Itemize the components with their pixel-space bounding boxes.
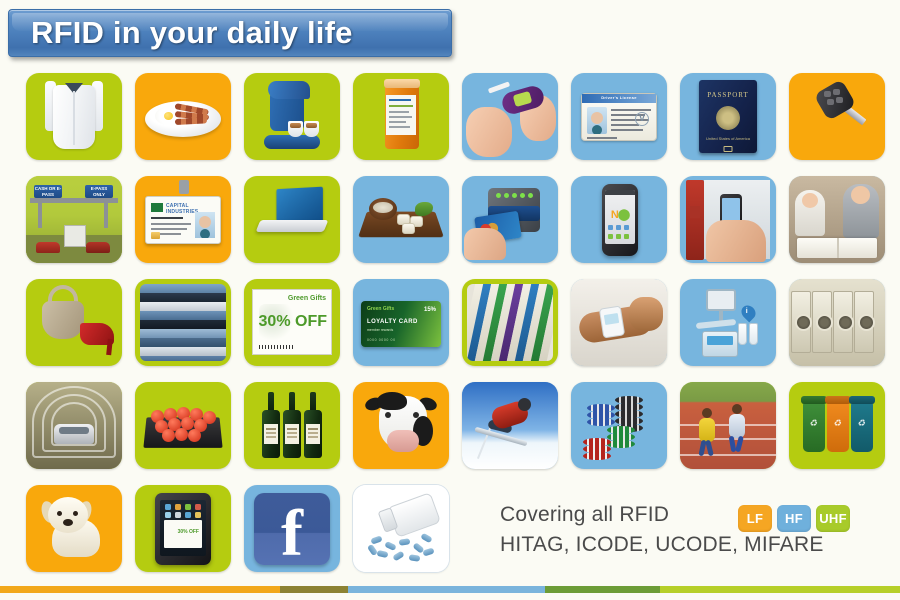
tile-car-wash-tunnel[interactable] [26,382,122,469]
badge-hf[interactable]: HF [777,505,811,532]
tile-toll-booth-epass[interactable]: CASH OR E-PASS E-PASS ONLY [26,176,122,263]
caption-line-2: HITAG, ICODE, UCODE, MIFARE [500,533,860,557]
tile-wine-bottles[interactable] [244,382,340,469]
frequency-badge-group: LF HF UHF [738,505,850,532]
badge-uhf[interactable]: UHF [816,505,850,532]
coupon-discount: 30% OFF [259,314,327,329]
tile-glucose-meter[interactable] [462,73,558,160]
tile-handbag-and-shoe[interactable] [26,279,122,366]
loyalty-brand: Green Gifts [367,306,394,312]
tile-laptop-computer[interactable] [244,176,340,263]
tile-medical-file-folders[interactable] [462,279,558,366]
footer-segment [545,586,660,593]
coupon-brand: Green Gifts [288,295,326,303]
footer-segment [280,586,348,593]
tile-loyalty-card[interactable]: Green Gifts 15% LOYALTY CARD member rewa… [353,279,449,366]
tile-bacon-and-eggs-plate[interactable] [135,73,231,160]
tile-car-key-fob[interactable] [789,73,885,160]
tile-library-reading[interactable] [789,176,885,263]
tile-facebook-logo[interactable]: f [244,485,340,572]
tile-recycling-bins[interactable] [789,382,885,469]
tile-stacked-jeans[interactable] [135,279,231,366]
tile-pill-bottle-spilled[interactable] [353,485,449,572]
tile-sushi-tray[interactable] [353,176,449,263]
tile-skier[interactable] [462,382,558,469]
toll-sign-cash-or-epass: CASH OR E-PASS [34,185,62,198]
tile-tomato-crate[interactable] [135,382,231,469]
tile-passport[interactable]: PASSPORT United States of America [680,73,776,160]
footer-color-stripe [0,586,900,593]
icon-grid: Driver's License PASSPORT United States … [26,73,882,572]
tile-puppy[interactable] [26,485,122,572]
tile-laundry-machines[interactable] [789,279,885,366]
tile-discount-coupon[interactable]: Green Gifts 30% OFF [244,279,340,366]
tile-phone-at-ticket-gate[interactable] [680,176,776,263]
tile-casino-chips[interactable] [571,382,667,469]
loyalty-card-title: LOYALTY CARD [367,319,418,325]
page-title: RFID in your daily life [9,15,353,51]
tile-employee-id-badge[interactable]: CAPITAL INDUSTRIES [135,176,231,263]
license-header-text: Driver's License [601,95,637,100]
tile-coffee-machine[interactable] [244,73,340,160]
tile-white-dress-shirt[interactable] [26,73,122,160]
tile-dairy-cow[interactable] [353,382,449,469]
footer-segment [660,586,900,593]
tile-tablet-device[interactable] [135,485,231,572]
tile-marathon-runners[interactable] [680,382,776,469]
tile-prescription-pill-bottle[interactable] [353,73,449,160]
tile-drivers-license[interactable]: Driver's License [571,73,667,160]
footer-segment [348,586,545,593]
toll-sign-epass-only: E-PASS ONLY [85,185,113,198]
badge-lf[interactable]: LF [738,505,772,532]
footer-segment [0,586,280,593]
facebook-f-glyph: f [281,499,303,569]
tile-contactless-payment-terminal[interactable] [462,176,558,263]
tile-nfc-smartphone[interactable]: N⬤ [571,176,667,263]
passport-country: United States of America [699,136,757,142]
slide-canvas: RFID in your daily life Driver's Licens [0,0,900,600]
passport-title: PASSPORT [699,91,757,99]
tile-lab-sample-tracking[interactable] [680,279,776,366]
tile-patient-wristband[interactable] [571,279,667,366]
title-banner: RFID in your daily life [8,9,452,57]
